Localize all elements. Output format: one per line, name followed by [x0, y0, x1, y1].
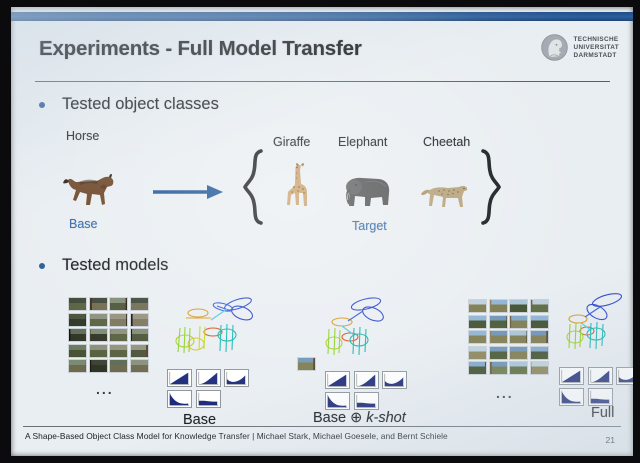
thumbnail-image [130, 359, 149, 373]
thumbnail-image [489, 361, 508, 375]
thumbnail-image [68, 328, 87, 342]
histogram-plot [559, 388, 584, 406]
thumbnail-image [89, 328, 108, 342]
thumbnail-image [468, 361, 487, 375]
thumbnail-image [489, 315, 508, 329]
logo-line-3: DARMSTADT [573, 52, 619, 60]
thumbnail-image [530, 330, 549, 344]
slide-canvas: Experiments - Full Model Transfer TECHNI… [11, 7, 633, 456]
histogram-plot [616, 367, 633, 385]
logo-wordmark: TECHNISCHE UNIVERSITAT DARMSTADT [573, 36, 619, 60]
thumbnail-image [130, 297, 149, 311]
histogram-plot [196, 390, 221, 408]
title-divider [35, 81, 610, 82]
close-brace-icon [479, 149, 501, 225]
thumbnail-image [468, 299, 487, 313]
histogram-row [167, 390, 249, 408]
projected-slide-photo: Experiments - Full Model Transfer TECHNI… [0, 0, 640, 463]
giraffe-image [279, 162, 313, 214]
histogram-plot [196, 369, 221, 387]
histogram-row [325, 392, 407, 410]
shape-model-sketch-full [559, 289, 633, 355]
bullet-tested-object-classes: Tested object classes [39, 95, 219, 114]
histogram-plot [559, 367, 584, 385]
footer-divider [23, 426, 621, 427]
thumbnail-grid-full [468, 299, 549, 375]
thumbnail-image [130, 328, 149, 342]
histogram-plot [167, 369, 192, 387]
thumbnail-image [68, 297, 87, 311]
histogram-plot [167, 390, 192, 408]
logo-line-2: UNIVERSITAT [573, 44, 619, 52]
thumbnail-image [89, 344, 108, 358]
thumbnail-image [468, 346, 487, 360]
right-arrow-icon [151, 183, 226, 201]
target-class-label-2: Cheetah [423, 135, 470, 149]
elephant-image [336, 174, 394, 214]
open-brace-icon [243, 149, 265, 225]
shape-model-sketch-base [163, 289, 258, 361]
horse-image [61, 169, 121, 215]
thumbnail-image [509, 346, 528, 360]
thumbnail-image [68, 359, 87, 373]
histogram-panels-base [167, 369, 249, 411]
thumbnail-image [489, 346, 508, 360]
thumbnail-image [130, 344, 149, 358]
thumbnail-image [109, 344, 128, 358]
page-title: Experiments - Full Model Transfer [39, 37, 362, 61]
thumbnail-image [509, 330, 528, 344]
ellipsis-full: ... [496, 385, 514, 401]
thumbnail-image [509, 361, 528, 375]
source-role-label: Base [69, 217, 98, 231]
target-class-label-0: Giraffe [273, 135, 310, 149]
thumbnail-image [489, 299, 508, 313]
footer-text: A Shape-Based Object Class Model for Kno… [25, 431, 448, 441]
target-class-label-1: Elephant [338, 135, 387, 149]
model-label-full: Full [591, 405, 614, 421]
histogram-plot [382, 371, 407, 389]
histogram-row [559, 388, 633, 406]
histogram-plot [224, 369, 249, 387]
logo-line-1: TECHNISCHE [573, 36, 619, 44]
thumbnail-image [530, 315, 549, 329]
source-class-label: Horse [66, 129, 99, 143]
bullet-label: Tested object classes [62, 95, 219, 114]
thumbnail-image [509, 315, 528, 329]
thumbnail-image [468, 330, 487, 344]
thumbnail-grid-base [68, 297, 149, 373]
cheetah-image [419, 177, 473, 213]
histogram-panels-full [559, 367, 633, 409]
histogram-row [325, 371, 407, 389]
thumbnail-image [68, 313, 87, 327]
histogram-plot [354, 371, 379, 389]
athena-head-icon [541, 34, 568, 61]
histogram-plot [354, 392, 379, 410]
thumbnail-image [468, 315, 487, 329]
histogram-plot [325, 371, 350, 389]
histogram-row [167, 369, 249, 387]
histogram-row [559, 367, 633, 385]
tu-darmstadt-logo: TECHNISCHE UNIVERSITAT DARMSTADT [541, 34, 619, 61]
thumbnail-image [489, 330, 508, 344]
thumbnail-image [109, 359, 128, 373]
thumbnail-image [109, 328, 128, 342]
thumbnail-image [530, 346, 549, 360]
histogram-panels-kshot [325, 371, 407, 413]
ellipsis-base: ... [96, 381, 114, 397]
histogram-plot [588, 367, 613, 385]
bullet-dot-icon [39, 102, 45, 108]
thumbnail-image [509, 299, 528, 313]
shape-model-sketch-kshot [311, 291, 403, 361]
thumbnail-image [130, 313, 149, 327]
bullet-tested-models: Tested models [39, 256, 168, 275]
thumbnail-image [109, 297, 128, 311]
thumbnail-image [68, 344, 87, 358]
thumbnail-image [109, 313, 128, 327]
thumbnail-image [89, 313, 108, 327]
thumbnail-image [89, 359, 108, 373]
histogram-plot [588, 388, 613, 406]
thumbnail-image [89, 297, 108, 311]
model-label-kshot: Base ⊕ k-shot [313, 410, 406, 426]
bullet-dot-icon [39, 263, 45, 269]
bullet-label: Tested models [62, 256, 168, 275]
thumbnail-image [530, 299, 549, 313]
slide-top-bar [11, 12, 633, 21]
histogram-plot [325, 392, 350, 410]
page-number: 21 [605, 435, 615, 445]
thumbnail-image [530, 361, 549, 375]
target-role-label: Target [352, 219, 387, 233]
